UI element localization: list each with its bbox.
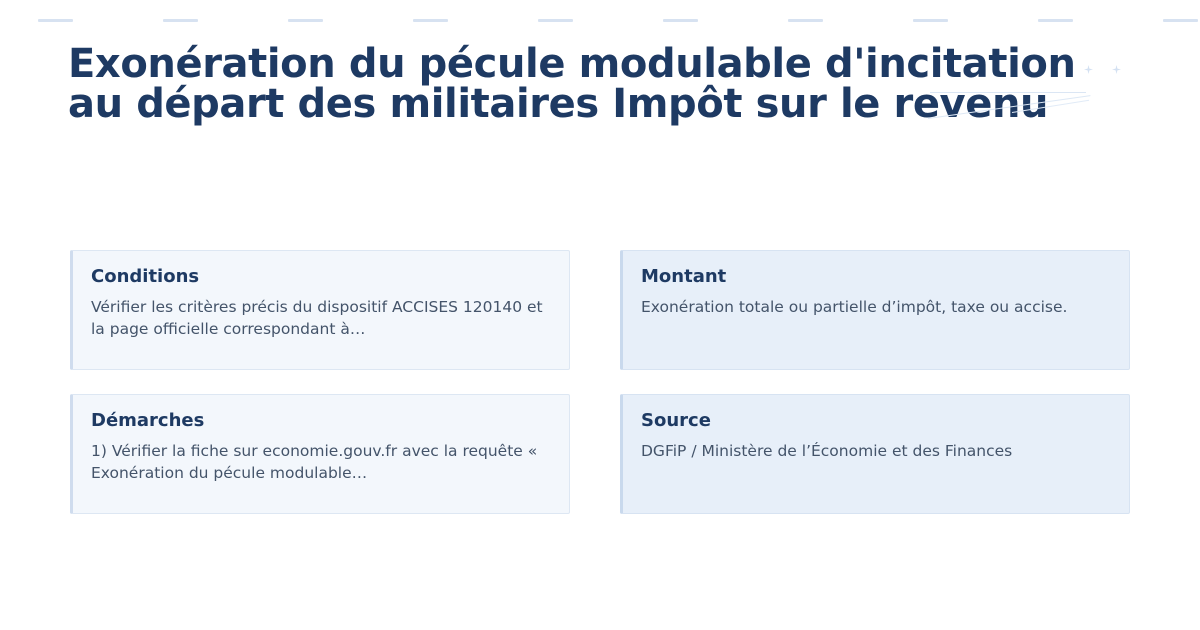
decor-dash bbox=[413, 19, 448, 22]
decor-dash bbox=[1163, 19, 1198, 22]
info-card-source: Source DGFiP / Ministère de l’Économie e… bbox=[620, 394, 1130, 514]
decor-dash bbox=[163, 19, 198, 22]
card-title: Démarches bbox=[91, 411, 549, 432]
decor-dash bbox=[38, 19, 73, 22]
decor-dash bbox=[1038, 19, 1073, 22]
sparkle-icon bbox=[1112, 65, 1121, 74]
card-title: Conditions bbox=[91, 267, 549, 288]
page-title: Exonération du pécule modulable d'incita… bbox=[68, 44, 1078, 124]
top-dash-rule bbox=[0, 19, 1200, 22]
decor-dash bbox=[288, 19, 323, 22]
info-card-montant: Montant Exonération totale ou partielle … bbox=[620, 250, 1130, 370]
decor-dash bbox=[538, 19, 573, 22]
decor-dash bbox=[663, 19, 698, 22]
decor-dash bbox=[788, 19, 823, 22]
card-body: 1) Vérifier la fiche sur economie.gouv.f… bbox=[91, 440, 549, 484]
card-body: DGFiP / Ministère de l’Économie et des F… bbox=[641, 440, 1109, 462]
info-card-conditions: Conditions Vérifier les critères précis … bbox=[70, 250, 570, 370]
card-body: Vérifier les critères précis du disposit… bbox=[91, 296, 549, 340]
page-title-block: Exonération du pécule modulable d'incita… bbox=[68, 44, 1098, 124]
card-title: Source bbox=[641, 411, 1109, 432]
info-card-grid: Conditions Vérifier les critères précis … bbox=[70, 250, 1130, 514]
card-title: Montant bbox=[641, 267, 1109, 288]
info-card-demarches: Démarches 1) Vérifier la fiche sur econo… bbox=[70, 394, 570, 514]
decor-dash bbox=[913, 19, 948, 22]
card-body: Exonération totale ou partielle d’impôt,… bbox=[641, 296, 1109, 318]
